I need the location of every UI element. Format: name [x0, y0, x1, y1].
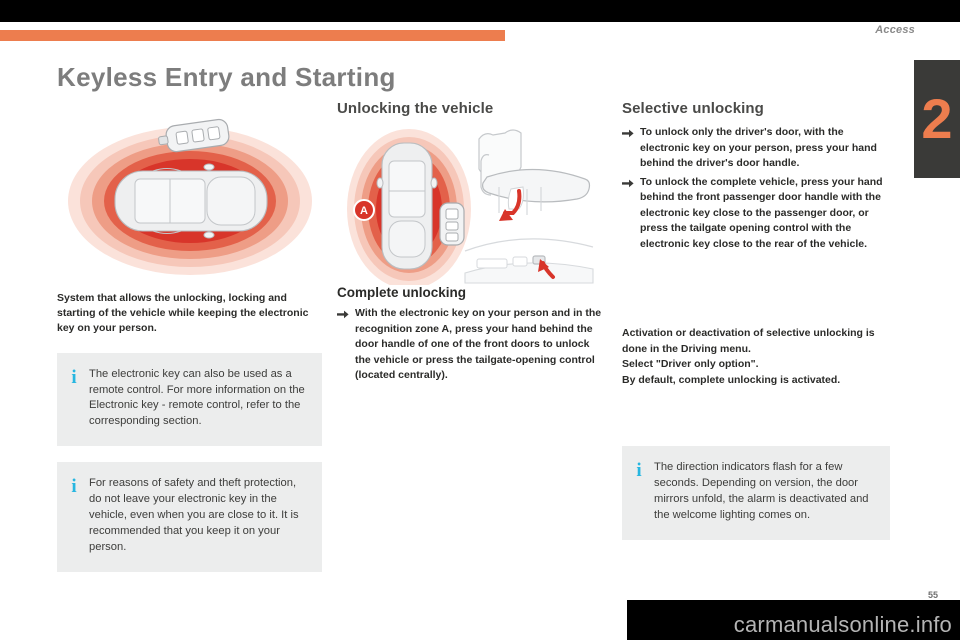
svg-text:A: A	[360, 205, 368, 217]
bullet-item: To unlock only the driver's door, with t…	[622, 125, 890, 172]
subsection-title-complete-unlocking: Complete unlocking	[337, 285, 602, 300]
key-fob-side	[440, 203, 464, 245]
info-icon: i	[69, 367, 79, 431]
arrow-bullet-icon	[337, 309, 349, 318]
info-box-safety-text: For reasons of safety and theft protecti…	[89, 476, 308, 556]
bullet-text: To unlock the complete vehicle, press yo…	[640, 176, 883, 250]
bullet-item: To unlock the complete vehicle, press yo…	[622, 175, 890, 253]
section-title-selective-unlocking: Selective unlocking	[622, 100, 890, 117]
middle-column: Unlocking the vehicle	[337, 100, 602, 387]
manual-page: Access 2 Keyless Entry and Starting	[0, 0, 960, 640]
bullet-text: With the electronic key on your person a…	[355, 307, 601, 381]
illustration-detection-zones	[57, 105, 322, 277]
page-number: 55	[928, 590, 938, 600]
right-column: Selective unlocking To unlock only the d…	[622, 100, 890, 540]
info-icon: i	[69, 476, 79, 556]
selective-unlocking-select: Select "Driver only option".	[622, 357, 890, 373]
footer-white-bar	[0, 600, 627, 640]
arrow-bullet-icon	[622, 178, 634, 187]
section-title-unlocking: Unlocking the vehicle	[337, 100, 602, 117]
bullet-text: To unlock only the driver's door, with t…	[640, 126, 877, 169]
footer-watermark: carmanualsonline.info	[0, 600, 960, 640]
selective-unlocking-note: Activation or deactivation of selective …	[622, 326, 890, 357]
page-title: Keyless Entry and Starting	[57, 62, 396, 93]
watermark-text: carmanualsonline.info	[734, 612, 952, 638]
left-column: System that allows the unlocking, lockin…	[57, 100, 322, 572]
info-box-indicators: i The direction indicators flash for a f…	[622, 446, 890, 540]
illustration-unlocking: A	[337, 125, 602, 285]
info-box-indicators-text: The direction indicators flash for a few…	[654, 460, 876, 524]
complete-unlocking-bullets: With the electronic key on your person a…	[337, 306, 602, 384]
info-box-remote-control-text: The electronic key can also be used as a…	[89, 367, 308, 431]
car-top-view-vertical	[377, 143, 437, 269]
unlocking-svg: A	[337, 125, 602, 285]
chapter-number: 2	[921, 91, 952, 147]
selective-unlocking-default: By default, complete unlocking is activa…	[622, 373, 890, 389]
top-black-band	[0, 0, 960, 22]
chapter-number-tab: 2	[914, 60, 960, 178]
car-top-view	[115, 164, 267, 238]
chapter-label: Access	[875, 24, 915, 36]
car-zones-svg	[57, 105, 322, 277]
info-icon: i	[634, 460, 644, 524]
arrow-bullet-icon	[622, 128, 634, 137]
header-orange-rule	[0, 30, 505, 41]
zone-a-marker: A	[354, 200, 374, 220]
info-box-safety: i For reasons of safety and theft protec…	[57, 462, 322, 572]
info-box-remote-control: i The electronic key can also be used as…	[57, 353, 322, 447]
lead-paragraph: System that allows the unlocking, lockin…	[57, 291, 322, 337]
bullet-item: With the electronic key on your person a…	[337, 306, 602, 384]
selective-unlocking-bullets: To unlock only the driver's door, with t…	[622, 125, 890, 252]
